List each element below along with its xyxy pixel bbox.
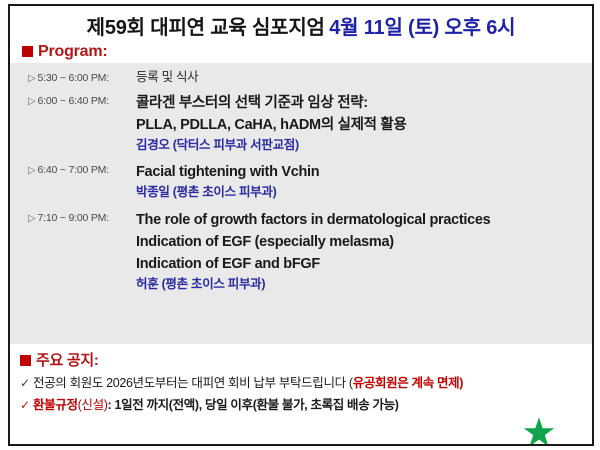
notice-item: ✓환불규정(신설): 1일전 까지(전액), 당일 이후(환불 불가, 초록집 … [20,395,592,417]
notice-section: 주요 공지: ✓전공의 회원도 2026년도부터는 대피연 회비 납부 부탁드립… [10,344,592,416]
program-time-label: 5:30 ~ 6:00 PM: [38,72,109,84]
program-section-header: Program: [10,42,592,63]
triangle-right-icon: ▷ [28,213,36,224]
program-time-label: 6:40 ~ 7:00 PM: [38,164,109,176]
program-details: The role of growth factors in dermatolog… [136,209,592,293]
notice-item-lead-bold: 환불규정 [33,398,78,412]
triangle-right-icon: ▷ [28,73,36,84]
program-row: ▷6:00 ~ 6:40 PM: 콜라겐 부스터의 선택 기준과 임상 전략: … [10,92,592,154]
program-time: ▷6:00 ~ 6:40 PM: [28,92,136,107]
program-topic: 콜라겐 부스터의 선택 기준과 임상 전략: [136,92,592,114]
check-icon: ✓ [20,395,33,416]
page-title: 제59회 대피연 교육 심포지엄 [87,17,325,39]
program-row: ▷6:40 ~ 7:00 PM: Facial tightening with … [10,161,592,201]
program-details: 등록 및 식사 [136,69,592,85]
red-square-icon [20,355,31,366]
program-time-label: 6:00 ~ 6:40 PM: [38,95,109,107]
program-topic: 등록 및 식사 [136,69,592,85]
poster-header: 제59회 대피연 교육 심포지엄 4월 11일 (토) 오후 6시 [10,6,592,42]
event-datetime: 4월 11일 (토) 오후 6시 [329,17,515,39]
program-topic: The role of growth factors in dermatolog… [136,209,592,231]
program-time-label: 7:10 ~ 9:00 PM: [38,212,109,224]
notice-item-emphasis: 유공회원은 계속 면제 [353,376,460,390]
program-details: 콜라겐 부스터의 선택 기준과 임상 전략: PLLA, PDLLA, CaHA… [136,92,592,154]
red-square-icon [22,46,33,57]
triangle-right-icon: ▷ [28,165,36,176]
notice-item-text: 전공의 회원도 2026년도부터는 대피연 회비 납부 부탁드립니다 ( [33,376,353,390]
notice-section-label: 주요 공지: [36,352,99,369]
program-row: ▷7:10 ~ 9:00 PM: The role of growth fact… [10,209,592,293]
poster-frame: 제59회 대피연 교육 심포지엄 4월 11일 (토) 오후 6시 Progra… [8,4,594,446]
notice-item: ✓전공의 회원도 2026년도부터는 대피연 회비 납부 부탁드립니다 (유공회… [20,373,592,395]
program-section-label: Program: [38,43,108,60]
program-topic: Indication of EGF and bFGF [136,253,592,275]
program-topic: Facial tightening with Vchin [136,161,592,183]
program-topic: PLLA, PDLLA, CaHA, hADM의 실제적 활용 [136,114,592,136]
program-row: ▷5:30 ~ 6:00 PM: 등록 및 식사 [10,69,592,85]
notice-section-header: 주요 공지: [20,349,592,370]
program-details: Facial tightening with Vchin 박종일 (평촌 초이스… [136,161,592,201]
program-speaker: 허훈 (평촌 초이스 피부과) [136,275,592,293]
check-icon: ✓ [20,373,33,394]
program-topic: Indication of EGF (especially melasma) [136,231,592,253]
program-time: ▷7:10 ~ 9:00 PM: [28,209,136,224]
poster-root: 제59회 대피연 교육 심포지엄 4월 11일 (토) 오후 6시 Progra… [0,0,600,450]
notice-item-lead: (신설) [78,398,108,412]
notice-item-text: : 1일전 까지(전액), 당일 이후(환불 불가, 초록집 배송 가능) [108,398,399,412]
program-list: ▷5:30 ~ 6:00 PM: 등록 및 식사 ▷6:00 ~ 6:40 PM… [10,63,592,344]
program-time: ▷5:30 ~ 6:00 PM: [28,69,136,84]
program-time: ▷6:40 ~ 7:00 PM: [28,161,136,176]
green-star-icon [522,416,556,446]
notice-item-tail: ) [459,376,463,390]
program-speaker: 김경오 (닥터스 피부과 서판교점) [136,136,592,154]
triangle-right-icon: ▷ [28,96,36,107]
program-speaker: 박종일 (평촌 초이스 피부과) [136,183,592,201]
